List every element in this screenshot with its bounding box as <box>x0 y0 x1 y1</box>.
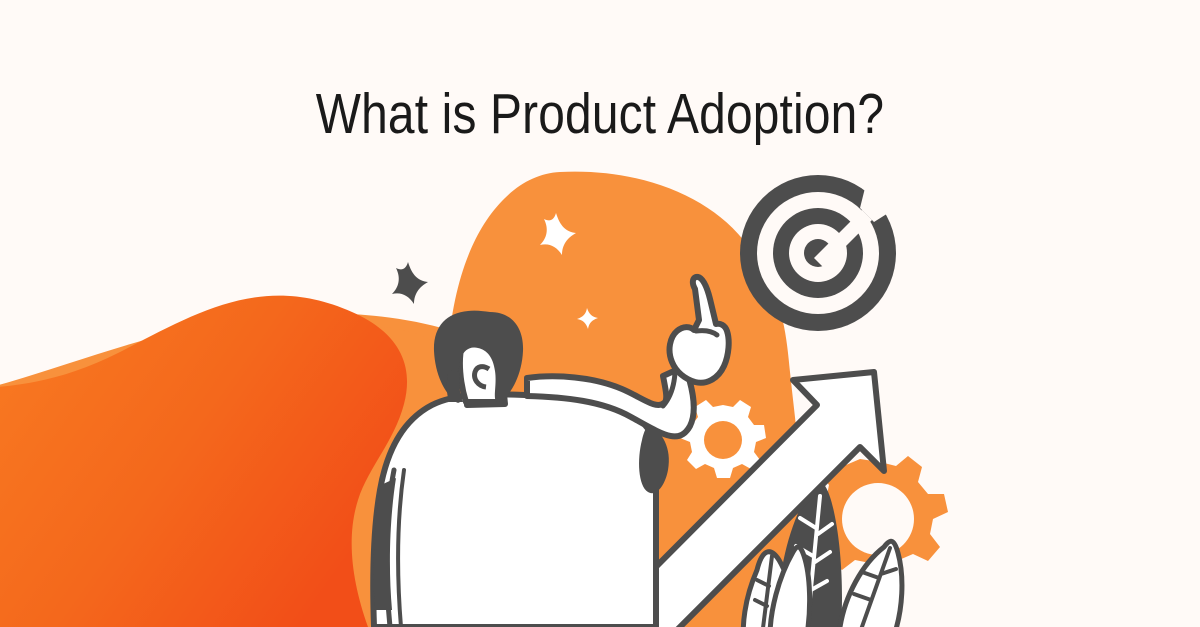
dartboard-target-icon <box>740 175 896 331</box>
product-adoption-illustration <box>0 0 1200 627</box>
hero-banner: What is Product Adoption? <box>0 0 1200 627</box>
person-torso <box>373 394 656 627</box>
